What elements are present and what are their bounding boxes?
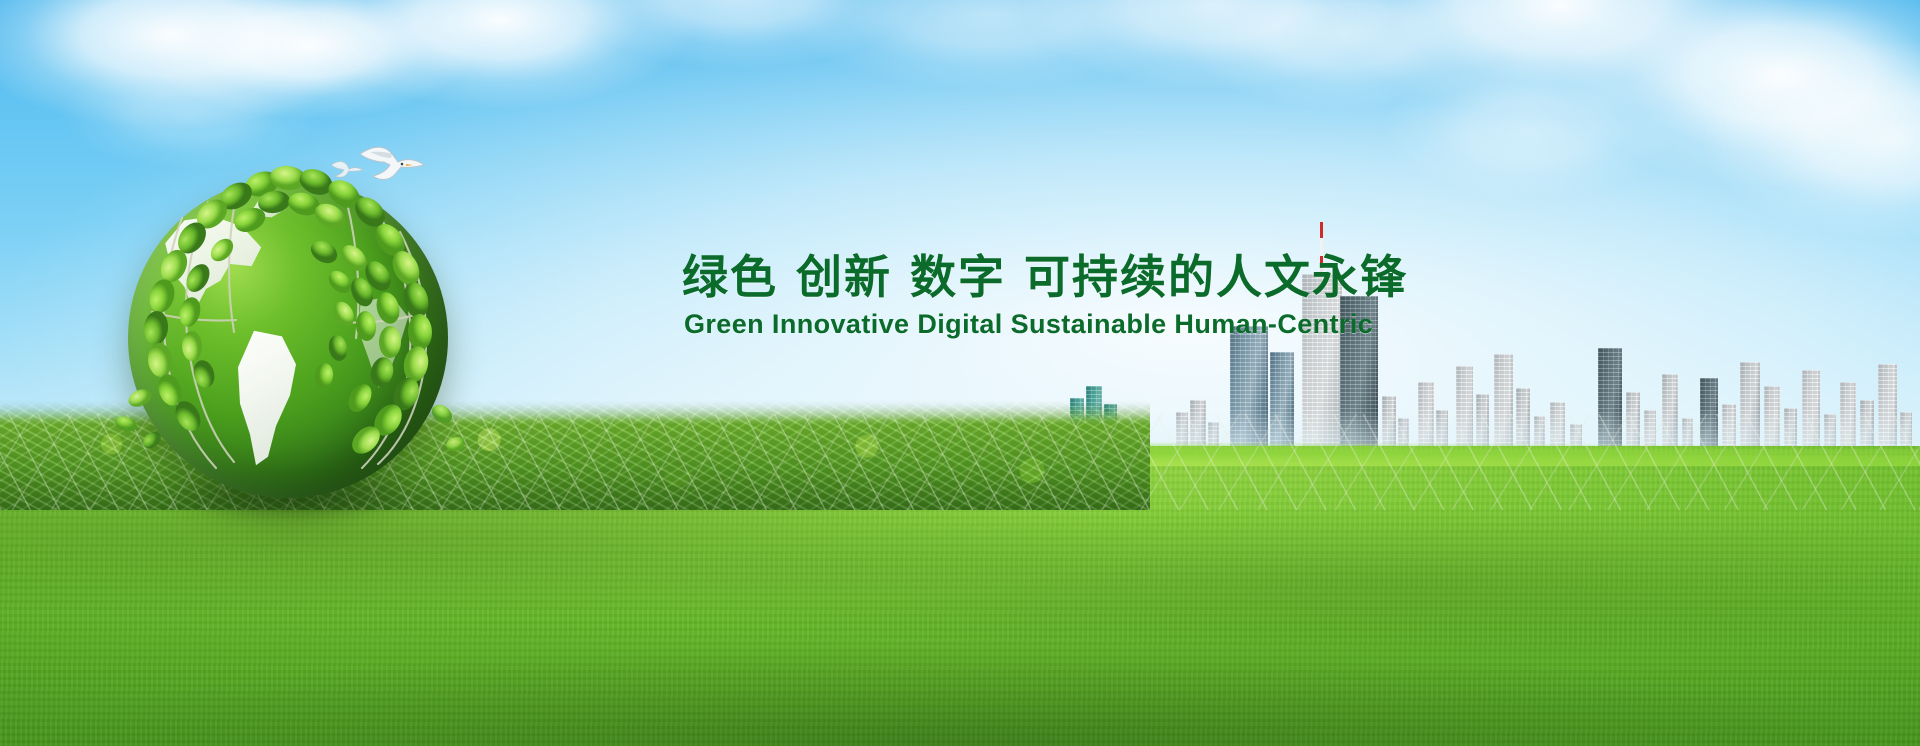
- globe-sphere: [128, 178, 448, 498]
- continent-north-america: [158, 212, 278, 316]
- continent-africa: [346, 296, 420, 392]
- continent-greenland: [246, 188, 292, 222]
- continent-south-america: [220, 328, 320, 468]
- green-earth-globe: [128, 178, 448, 498]
- headline-english: Green Innovative Digital Sustainable Hum…: [684, 310, 1582, 340]
- eco-hero-banner: 绿色 创新 数字 可持续的人文永锋 Green Innovative Digit…: [0, 0, 1920, 746]
- headline-chinese: 绿色 创新 数字 可持续的人文永锋: [682, 252, 1582, 304]
- headline-block: 绿色 创新 数字 可持续的人文永锋 Green Innovative Digit…: [682, 252, 1582, 339]
